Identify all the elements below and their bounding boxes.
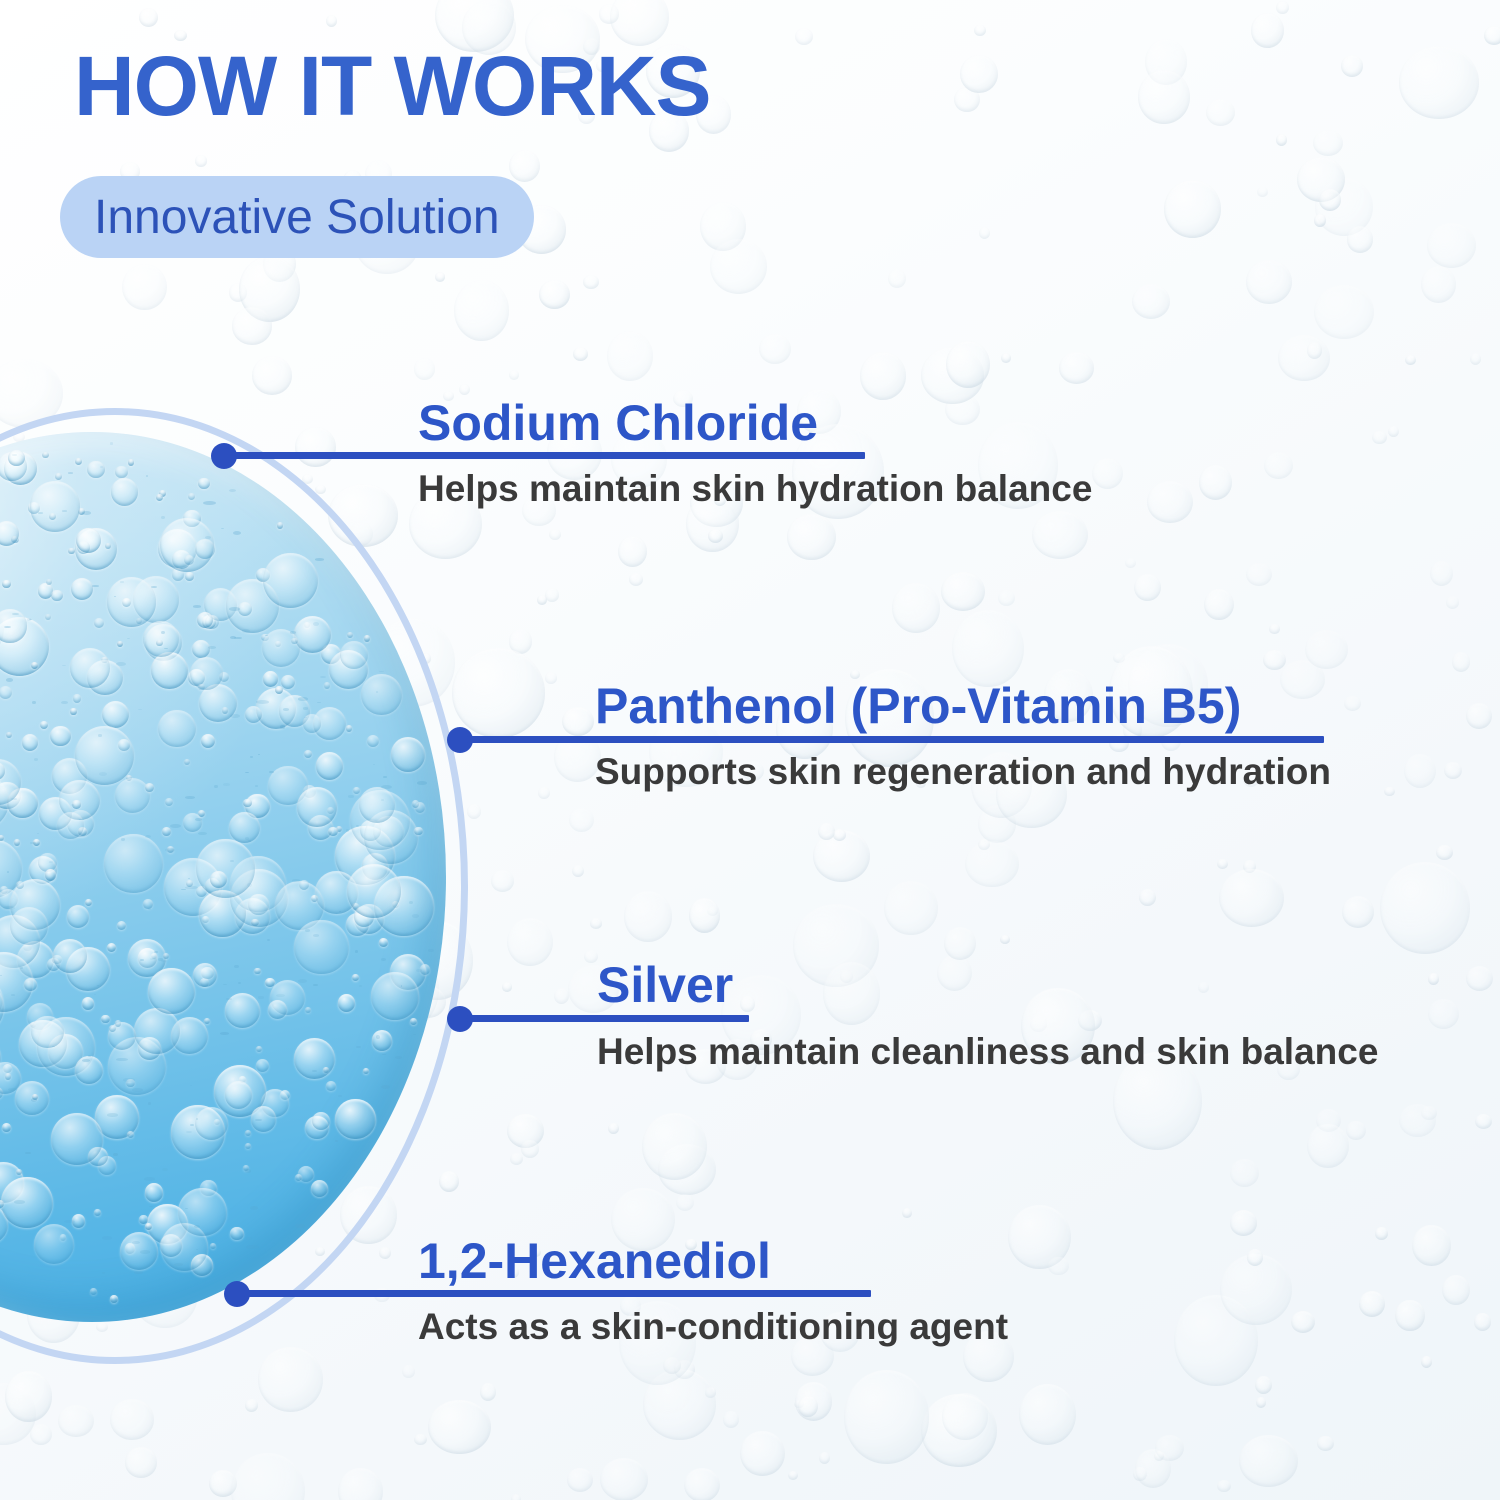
gel-speck xyxy=(416,969,422,971)
background-droplet xyxy=(1239,1435,1298,1487)
background-droplet xyxy=(562,707,594,736)
gel-speck xyxy=(196,1118,198,1119)
gel-speck xyxy=(214,785,218,788)
gel-speck xyxy=(198,832,207,836)
gel-speck xyxy=(373,764,375,765)
background-droplet xyxy=(539,280,569,309)
background-droplet xyxy=(1342,896,1374,928)
background-droplet xyxy=(888,269,906,288)
background-droplet xyxy=(1092,458,1123,489)
background-droplet xyxy=(231,1453,305,1500)
gel-speck xyxy=(258,754,260,755)
background-droplet xyxy=(798,1396,818,1418)
background-droplet xyxy=(1375,1227,1389,1240)
gel-speck xyxy=(14,1200,26,1204)
gel-bubble xyxy=(340,641,368,669)
gel-bubble xyxy=(82,997,95,1010)
background-droplet xyxy=(1380,862,1470,954)
background-droplet xyxy=(30,1424,52,1445)
gel-bubble xyxy=(145,1183,164,1202)
ingredient-description: Acts as a skin-conditioning agent xyxy=(418,1308,1008,1345)
background-droplet xyxy=(1133,1467,1147,1481)
gel-speck xyxy=(221,528,225,529)
gel-bubble xyxy=(6,732,12,738)
background-droplet xyxy=(1412,1225,1451,1266)
background-droplet xyxy=(1475,1114,1492,1129)
background-droplet xyxy=(833,829,846,841)
gel-bubble xyxy=(158,710,195,747)
gel-bubble xyxy=(196,839,255,898)
background-droplet xyxy=(978,839,990,851)
gel-speck xyxy=(61,701,68,705)
background-droplet xyxy=(1404,754,1436,788)
gel-bubble xyxy=(165,798,173,806)
gel-speck xyxy=(186,1131,192,1133)
background-droplet xyxy=(1139,889,1156,906)
background-droplet xyxy=(1000,935,1010,944)
ingredient-description: Supports skin regeneration and hydration xyxy=(595,753,1331,790)
gel-bubble xyxy=(184,759,190,765)
background-droplet xyxy=(1059,352,1094,384)
background-droplet xyxy=(624,891,672,942)
background-droplet xyxy=(599,4,620,24)
gel-speck xyxy=(233,531,241,535)
gel-bubble xyxy=(183,813,202,832)
background-droplet xyxy=(942,1393,988,1440)
gel-speck xyxy=(203,501,216,505)
gel-bubble xyxy=(31,1016,64,1049)
gel-bubble xyxy=(51,1113,103,1165)
gel-speck xyxy=(238,982,241,985)
background-droplet xyxy=(509,370,519,380)
gel-bubble xyxy=(51,590,62,601)
background-droplet xyxy=(658,1144,715,1195)
gel-bubble xyxy=(263,671,279,687)
background-droplet xyxy=(1217,859,1227,869)
background-droplet xyxy=(740,996,755,1012)
background-droplet xyxy=(509,629,533,653)
gel-speck xyxy=(13,540,18,543)
gel-bubble xyxy=(367,735,379,747)
gel-bubble xyxy=(391,737,426,772)
gel-bubble xyxy=(338,994,356,1012)
background-droplet xyxy=(1436,845,1453,859)
background-droplet xyxy=(860,352,906,400)
gel-speck xyxy=(110,442,113,444)
background-droplet xyxy=(0,1383,36,1445)
gel-bubble xyxy=(50,726,71,747)
background-droplet xyxy=(902,1208,912,1218)
background-droplet xyxy=(1019,1384,1077,1445)
gel-speck xyxy=(313,984,318,986)
gel-bubble xyxy=(263,553,318,608)
background-droplet xyxy=(965,841,1019,888)
background-droplet xyxy=(507,918,553,967)
background-droplet xyxy=(840,970,854,983)
background-droplet xyxy=(252,356,292,395)
gel-bubble xyxy=(73,694,82,703)
gel-speck xyxy=(8,1088,17,1091)
background-droplet xyxy=(1276,1,1289,15)
background-droplet xyxy=(195,155,207,166)
gel-speck xyxy=(250,756,252,757)
gel-bubble xyxy=(2,1123,11,1132)
gel-speck xyxy=(381,958,386,961)
background-droplet xyxy=(545,588,559,601)
background-droplet xyxy=(707,906,718,916)
gel-bubble xyxy=(30,481,80,531)
ingredient-name: Sodium Chloride xyxy=(418,398,818,448)
background-droplet xyxy=(229,283,247,301)
background-droplet xyxy=(710,239,767,294)
gel-bubble xyxy=(156,494,163,501)
gel-speck xyxy=(71,804,74,806)
gel-bubble xyxy=(297,787,337,827)
background-droplet xyxy=(258,1347,323,1412)
gel-speck xyxy=(94,994,97,995)
background-droplet xyxy=(937,955,972,991)
gel-bubble xyxy=(291,638,297,644)
background-droplet xyxy=(1220,1254,1292,1325)
gel-bubble xyxy=(347,632,353,638)
background-droplet xyxy=(1470,353,1481,365)
background-droplet xyxy=(502,982,512,991)
gel-bubble xyxy=(160,518,214,572)
background-droplet xyxy=(454,280,509,341)
background-droplet xyxy=(402,1365,415,1377)
gel-speck xyxy=(223,783,230,785)
background-droplet xyxy=(569,808,594,832)
gel-bubble xyxy=(94,618,104,628)
how-it-works-infographic: HOW IT WORKS Innovative Solution Sodium … xyxy=(0,0,1500,1500)
background-droplet xyxy=(788,1471,798,1480)
gel-bubble xyxy=(115,1020,122,1027)
gel-speck xyxy=(123,1078,134,1082)
gel-speck xyxy=(185,796,195,799)
gel-bubble xyxy=(67,905,89,927)
gel-speck xyxy=(62,510,67,512)
background-droplet xyxy=(1446,596,1459,609)
background-droplet xyxy=(507,1114,544,1148)
background-droplet xyxy=(1315,178,1373,236)
background-droplet xyxy=(1280,660,1324,699)
background-droplet xyxy=(1307,1124,1349,1169)
background-droplet xyxy=(1219,869,1284,927)
gel-speck xyxy=(280,725,286,728)
gel-speck xyxy=(107,1113,118,1117)
gel-speck xyxy=(229,607,240,611)
background-droplet xyxy=(844,1370,930,1463)
gel-bubble xyxy=(128,459,135,466)
gel-speck xyxy=(6,678,13,682)
gel-speck xyxy=(170,824,181,828)
gel-speck xyxy=(298,979,307,983)
background-droplet xyxy=(607,331,653,381)
gel-speck xyxy=(256,700,270,704)
gel-speck xyxy=(140,1250,150,1254)
gel-bubble xyxy=(127,1131,134,1138)
background-droplet xyxy=(545,672,557,684)
gel-bubble xyxy=(281,675,295,689)
gel-speck xyxy=(335,1140,339,1141)
gel-bubble xyxy=(85,899,92,906)
background-droplet xyxy=(921,347,984,404)
gel-bubble xyxy=(268,1000,287,1019)
background-droplet xyxy=(1269,624,1279,634)
background-droplet xyxy=(5,1371,52,1422)
gel-bubble xyxy=(277,522,283,528)
background-droplet xyxy=(1444,762,1462,780)
gel-speck xyxy=(49,861,53,863)
gel-speck xyxy=(376,691,378,692)
gel-speck xyxy=(348,795,353,797)
background-droplet xyxy=(600,1458,648,1500)
background-droplet xyxy=(1430,561,1453,586)
gel-bubble xyxy=(299,880,309,890)
background-droplet xyxy=(643,1369,716,1440)
gel-speck xyxy=(356,1046,361,1048)
background-droplet xyxy=(1276,134,1287,146)
gel-speck xyxy=(161,631,164,634)
background-droplet xyxy=(1297,157,1345,202)
background-droplet xyxy=(1466,703,1492,729)
background-droplet xyxy=(954,87,980,113)
gel-speck xyxy=(376,1035,380,1038)
background-droplet xyxy=(1030,1016,1047,1031)
gel-speck xyxy=(144,1177,154,1181)
gel-speck xyxy=(362,1150,365,1151)
background-droplet xyxy=(892,583,940,633)
background-droplet xyxy=(125,1447,158,1478)
gel-bubble xyxy=(117,921,126,930)
gel-speck xyxy=(37,833,39,834)
background-droplet xyxy=(573,347,589,362)
background-droplet xyxy=(1078,1010,1102,1031)
gel-bubble xyxy=(87,461,105,479)
background-droplet xyxy=(1008,1205,1071,1269)
gel-bubble xyxy=(195,1107,228,1140)
gel-speck xyxy=(150,958,156,960)
background-droplet xyxy=(1399,1104,1435,1137)
background-droplet xyxy=(795,1382,833,1421)
gel-speck xyxy=(246,1245,259,1249)
gel-bubble xyxy=(363,1068,369,1074)
background-droplet xyxy=(549,529,561,541)
background-droplet xyxy=(1474,1313,1492,1331)
background-droplet xyxy=(642,1113,707,1180)
ingredient-name: 1,2-Hexanediol xyxy=(418,1236,771,1286)
background-droplet xyxy=(1344,696,1361,711)
gel-bubble xyxy=(324,682,330,688)
gel-bubble xyxy=(162,827,171,836)
background-droplet xyxy=(1217,1480,1231,1492)
background-droplet xyxy=(884,881,938,935)
gel-speck xyxy=(355,950,358,953)
background-droplet xyxy=(435,272,445,282)
gel-bubble xyxy=(102,701,129,728)
gel-bubble xyxy=(163,953,169,959)
gel-speck xyxy=(134,1271,143,1274)
gel-speck xyxy=(121,838,125,841)
background-droplet xyxy=(583,275,598,289)
gel-bubble xyxy=(201,734,215,748)
ingredient-name: Panthenol (Pro-Vitamin B5) xyxy=(595,681,1241,731)
gel-bubble xyxy=(2,580,11,589)
gel-bubble xyxy=(145,783,154,792)
background-droplet xyxy=(946,341,990,388)
gel-speck xyxy=(4,626,11,628)
gel-speck xyxy=(165,848,175,852)
gel-speck xyxy=(102,1236,112,1240)
background-droplet xyxy=(467,804,481,818)
background-droplet xyxy=(674,1360,695,1378)
background-droplet xyxy=(139,8,158,27)
gel-bubble xyxy=(68,548,74,554)
background-droplet xyxy=(509,150,540,182)
background-droplet xyxy=(823,962,880,1025)
background-droplet xyxy=(1198,982,1209,993)
ingredient-underline xyxy=(595,736,1324,743)
gel-bubble xyxy=(225,1081,252,1108)
gel-bubble xyxy=(16,1169,22,1175)
gel-bubble xyxy=(305,1007,311,1013)
background-droplet xyxy=(428,1400,491,1454)
gel-speck xyxy=(92,585,99,588)
background-droplet xyxy=(974,25,986,36)
background-droplet xyxy=(1230,1159,1259,1187)
background-droplet xyxy=(590,918,602,928)
gel-bubble xyxy=(10,907,48,945)
gel-speck xyxy=(359,985,362,987)
gel-bubble xyxy=(346,725,353,732)
background-droplet xyxy=(1427,223,1477,269)
background-droplet xyxy=(379,1247,391,1259)
background-droplet xyxy=(239,256,301,323)
background-droplet xyxy=(979,227,990,239)
gel-bubble xyxy=(120,1232,158,1270)
background-droplet xyxy=(1319,189,1341,211)
background-droplet xyxy=(960,55,998,93)
gel-bubble xyxy=(34,1224,74,1264)
gel-bubble xyxy=(70,708,76,714)
background-droplet xyxy=(1421,1106,1437,1119)
background-droplet xyxy=(1138,70,1190,123)
gel-bubble xyxy=(90,1288,97,1295)
gel-speck xyxy=(412,914,419,917)
background-droplet xyxy=(584,950,598,963)
background-droplet xyxy=(941,572,985,611)
background-droplet xyxy=(618,536,647,567)
background-droplet xyxy=(245,1399,259,1413)
gel-speck xyxy=(127,638,130,639)
gel-speck xyxy=(148,908,151,910)
gel-bubble xyxy=(379,938,388,947)
gel-bubble xyxy=(347,864,401,918)
gel-speck xyxy=(68,472,74,474)
gel-speck xyxy=(196,1249,198,1250)
gel-bubble xyxy=(222,707,229,714)
background-droplet xyxy=(1395,1300,1425,1332)
gel-speck xyxy=(7,871,9,873)
gel-bubble xyxy=(326,1081,336,1091)
background-droplet xyxy=(700,202,746,251)
gel-speck xyxy=(317,702,320,703)
gel-bubble xyxy=(190,657,223,690)
background-droplet xyxy=(1125,558,1135,568)
gel-speck xyxy=(428,949,434,952)
gel-speck xyxy=(298,697,307,701)
gel-speck xyxy=(82,511,91,515)
ingredient-description: Helps maintain skin hydration balance xyxy=(418,470,1092,507)
background-droplet xyxy=(1399,46,1478,118)
gel-bubble xyxy=(192,640,210,658)
gel-bubble xyxy=(70,648,110,688)
gel-speck xyxy=(25,1152,30,1154)
background-droplet xyxy=(491,870,514,891)
background-droplet xyxy=(1134,574,1161,601)
gel-speck xyxy=(383,776,386,778)
gel-bubble xyxy=(160,1234,182,1256)
gel-bubble xyxy=(0,686,12,699)
ingredient-underline xyxy=(597,1015,749,1022)
background-droplet xyxy=(795,28,813,45)
gel-speck xyxy=(223,984,227,985)
gel-speck xyxy=(255,785,259,787)
background-droplet xyxy=(684,1468,720,1500)
gel-bubble xyxy=(115,466,127,478)
background-droplet xyxy=(1346,1121,1366,1141)
gel-bubble xyxy=(115,778,150,813)
gel-speck xyxy=(246,1237,252,1241)
background-droplet xyxy=(944,927,976,960)
gel-bubble xyxy=(410,1018,417,1025)
background-droplet xyxy=(414,358,436,379)
gel-speck xyxy=(242,629,250,633)
gel-bubble xyxy=(254,968,261,975)
background-droplet xyxy=(1428,973,1439,984)
gel-bubble xyxy=(111,478,138,505)
gel-bubble xyxy=(76,528,101,553)
gel-bubble xyxy=(353,787,360,794)
gel-speck xyxy=(234,637,241,639)
gel-speck xyxy=(38,512,43,514)
background-droplet xyxy=(1291,1311,1315,1333)
gel-speck xyxy=(382,1054,386,1056)
background-droplet xyxy=(521,1140,540,1158)
background-droplet xyxy=(1145,39,1187,85)
gel-bubble xyxy=(45,869,56,880)
gel-bubble xyxy=(107,943,116,952)
background-droplet xyxy=(1428,999,1459,1028)
background-droplet xyxy=(1230,1210,1258,1236)
background-droplet xyxy=(122,264,167,311)
gel-bubble xyxy=(371,972,419,1020)
gel-bubble xyxy=(24,978,37,991)
background-droplet xyxy=(663,1357,681,1374)
background-droplet xyxy=(1032,511,1088,559)
gel-speck xyxy=(303,707,308,710)
background-droplet xyxy=(1204,589,1233,620)
gel-speck xyxy=(338,1095,342,1097)
background-droplet xyxy=(232,307,273,344)
background-droplet xyxy=(1155,1435,1184,1461)
background-droplet xyxy=(723,1411,738,1428)
gel-bubble xyxy=(352,974,359,981)
background-droplet xyxy=(1442,1275,1470,1305)
background-droplet xyxy=(1263,650,1286,670)
background-droplet xyxy=(794,1400,804,1409)
gel-speck xyxy=(258,996,264,998)
